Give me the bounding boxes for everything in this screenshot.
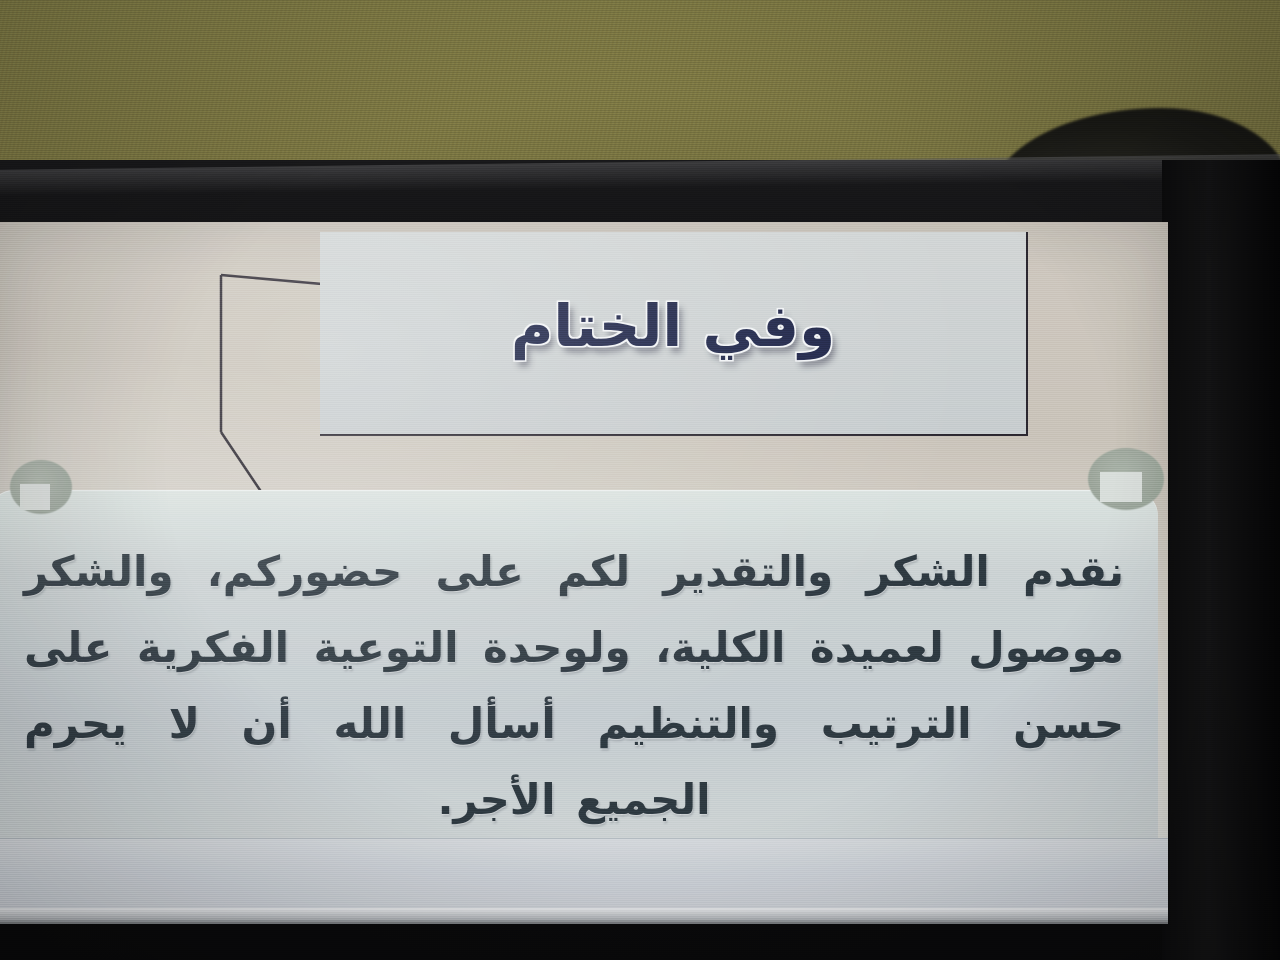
slide-title: وفي الختام <box>320 232 1026 434</box>
board-bottom-edge <box>0 908 1168 924</box>
presentation-slide: وفي الختام نقدم الشكر والتقدير لكم على ح… <box>0 222 1168 922</box>
bezel-right-edge <box>1162 160 1280 960</box>
photo-canvas: وفي الختام نقدم الشكر والتقدير لكم على ح… <box>0 0 1280 960</box>
slide-title-box: وفي الختام <box>320 232 1028 436</box>
panel-corner-notch-left <box>20 484 50 510</box>
slide-body-text: نقدم الشكر والتقدير لكم على حضوركم، والش… <box>24 534 1124 838</box>
panel-corner-notch-right <box>1100 472 1142 502</box>
